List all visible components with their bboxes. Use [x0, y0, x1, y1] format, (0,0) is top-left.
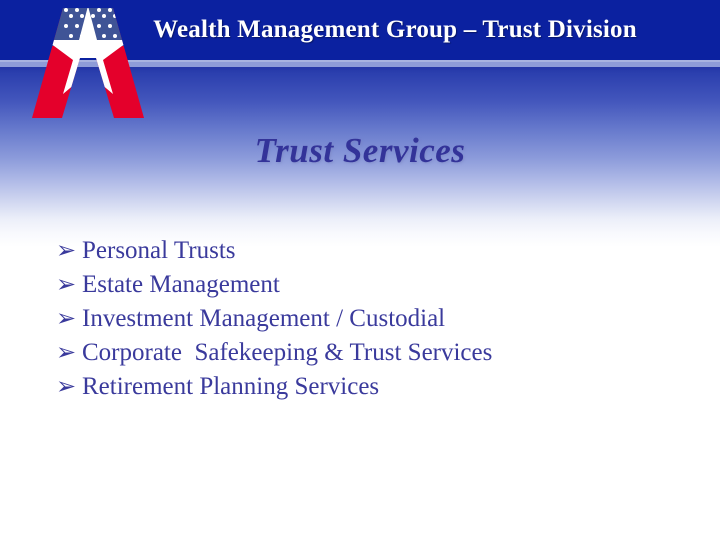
list-item-label: Corporate Safekeeping & Trust Services: [82, 336, 492, 369]
list-item: ➢ Retirement Planning Services: [56, 370, 676, 404]
arrow-bullet-icon: ➢: [56, 302, 82, 335]
arrow-bullet-icon: ➢: [56, 234, 82, 267]
list-item-label: Retirement Planning Services: [82, 370, 379, 403]
arrow-bullet-icon: ➢: [56, 370, 82, 403]
logo-red-stripes: [26, 0, 150, 122]
arrow-bullet-icon: ➢: [56, 336, 82, 369]
list-item: ➢ Estate Management: [56, 268, 676, 302]
list-item-label: Estate Management: [82, 268, 280, 301]
presentation-slide: Wealth Management Group – Trust Division: [0, 0, 720, 540]
list-item-label: Investment Management / Custodial: [82, 302, 445, 335]
page-title: Trust Services: [0, 131, 720, 171]
list-item: ➢ Corporate Safekeeping & Trust Services: [56, 336, 676, 370]
arrow-bullet-icon: ➢: [56, 268, 82, 301]
bullet-list: ➢ Personal Trusts ➢ Estate Management ➢ …: [56, 234, 676, 404]
list-item: ➢ Personal Trusts: [56, 234, 676, 268]
organization-logo: [26, 0, 150, 122]
list-item: ➢ Investment Management / Custodial: [56, 302, 676, 336]
list-item-label: Personal Trusts: [82, 234, 236, 267]
